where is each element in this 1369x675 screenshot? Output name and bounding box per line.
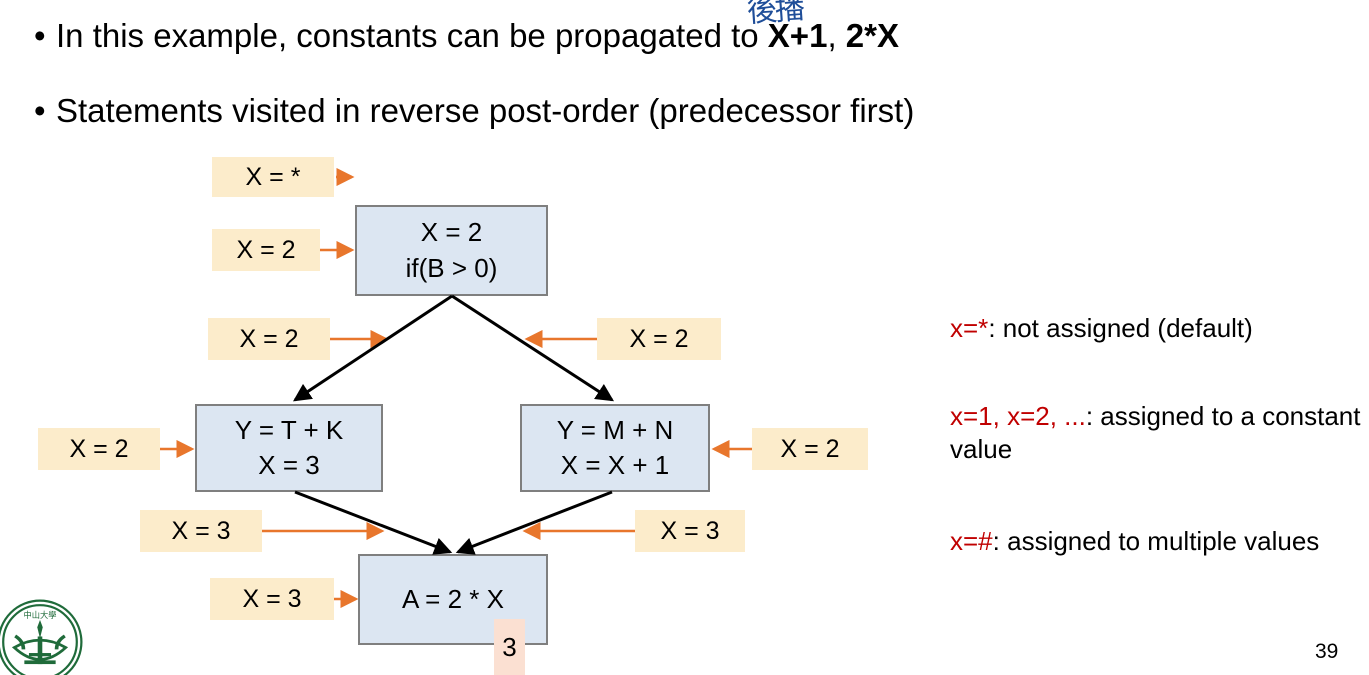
edge-entry-to-right bbox=[452, 296, 612, 400]
slide-canvas: •In this example, constants can be propa… bbox=[0, 0, 1369, 675]
edge-entry-to-left bbox=[295, 296, 452, 400]
edge-right-to-join bbox=[458, 492, 612, 552]
edge-left-to-join bbox=[295, 492, 450, 552]
cfg-edges-layer bbox=[0, 0, 1369, 675]
join-node-value-badge: 3 bbox=[494, 619, 525, 675]
